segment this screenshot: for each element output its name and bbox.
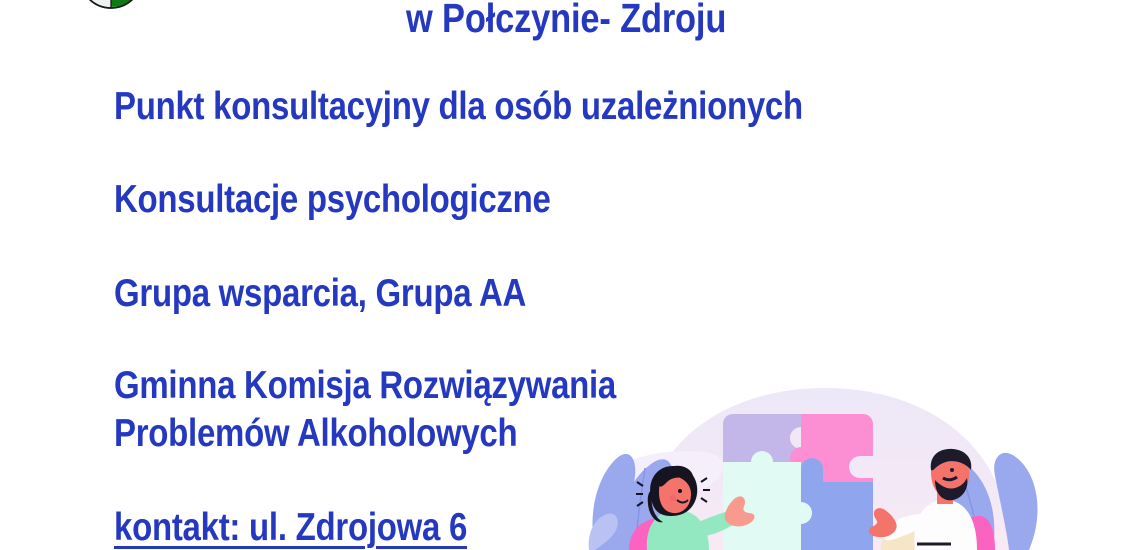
man-eye bbox=[950, 468, 954, 472]
woman-cheek bbox=[670, 495, 676, 501]
service-item-commission-line-1: Gminna Komisja Rozwiązywania bbox=[114, 362, 616, 410]
service-item-commission-line-2: Problemów Alkoholowych bbox=[114, 410, 616, 458]
poster-canvas: w Połczynie- Zdroju Punkt konsultacyjny … bbox=[0, 0, 1128, 550]
coat-of-arms-icon bbox=[66, 0, 156, 18]
service-item-psychological-consultations: Konsultacje psychologiczne bbox=[114, 176, 551, 224]
puzzle-teamwork-illustration bbox=[585, 382, 1065, 550]
contact-address: kontakt: ul. Zdrojowa 6 bbox=[114, 504, 467, 550]
service-item-support-group: Grupa wsparcia, Grupa AA bbox=[114, 270, 526, 318]
service-item-commission: Gminna Komisja Rozwiązywania Problemów A… bbox=[114, 362, 616, 457]
coat-of-arms-logo bbox=[66, 0, 156, 18]
woman-eye bbox=[678, 489, 682, 493]
page-title: w Połczynie- Zdroju bbox=[406, 0, 726, 40]
service-item-consultation-point: Punkt konsultacyjny dla osób uzależniony… bbox=[114, 83, 803, 131]
